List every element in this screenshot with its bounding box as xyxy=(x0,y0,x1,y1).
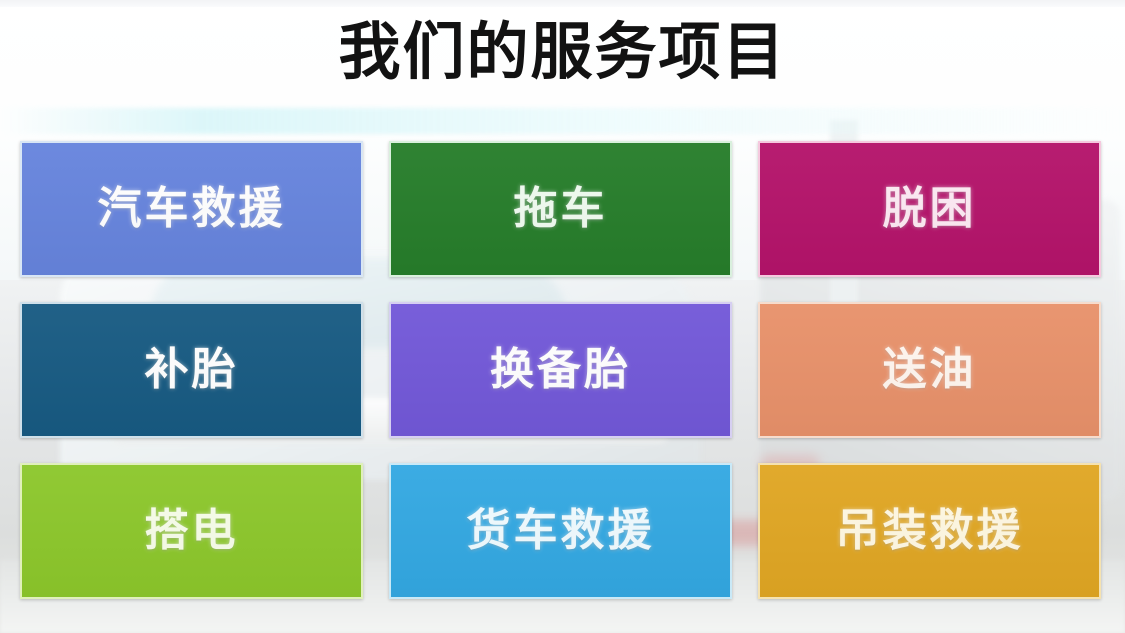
background-reflection xyxy=(0,108,1125,134)
service-tile-fuel-delivery[interactable]: 送油 xyxy=(758,302,1101,438)
service-tile-grid: 汽车救援拖车脱困补胎换备胎送油搭电货车救援吊装救援 xyxy=(20,141,1102,601)
service-tile-label: 换备胎 xyxy=(490,345,631,395)
service-tile-label: 补胎 xyxy=(145,345,239,395)
service-tile-tire-repair[interactable]: 补胎 xyxy=(20,302,363,438)
background-top-strip xyxy=(0,0,1125,7)
service-tile-spare-tire-change[interactable]: 换备胎 xyxy=(389,302,732,438)
title-bar: 我们的服务项目 xyxy=(0,16,1125,88)
service-poster: 我们的服务项目 汽车救援拖车脱困补胎换备胎送油搭电货车救援吊装救援 xyxy=(0,0,1125,633)
service-tile-label: 送油 xyxy=(883,345,977,395)
page-title: 我们的服务项目 xyxy=(338,16,786,88)
service-tile-label: 汽车救援 xyxy=(98,184,286,234)
service-tile-crane-lifting-rescue[interactable]: 吊装救援 xyxy=(758,463,1101,599)
service-tile-label: 脱困 xyxy=(883,184,977,234)
service-tile-label: 货车救援 xyxy=(467,506,655,556)
service-tile-towing[interactable]: 拖车 xyxy=(389,141,732,277)
service-tile-label: 拖车 xyxy=(514,184,608,234)
service-tile-jump-start[interactable]: 搭电 xyxy=(20,463,363,599)
service-tile-label: 搭电 xyxy=(145,506,239,556)
service-tile-label: 吊装救援 xyxy=(836,506,1024,556)
service-tile-truck-rescue[interactable]: 货车救援 xyxy=(389,463,732,599)
service-tile-extrication[interactable]: 脱困 xyxy=(758,141,1101,277)
service-tile-car-rescue[interactable]: 汽车救援 xyxy=(20,141,363,277)
